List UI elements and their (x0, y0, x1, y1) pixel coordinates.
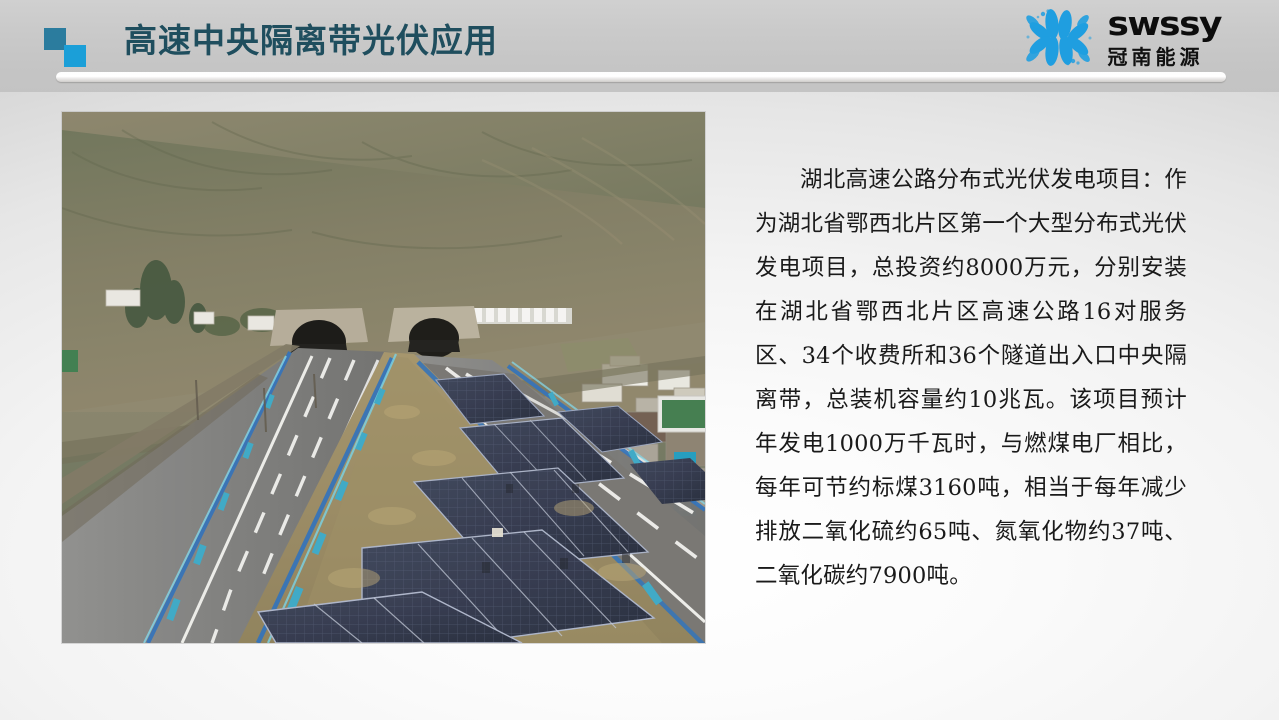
header-divider-bar (56, 72, 1226, 82)
presentation-slide: 高速中央隔离带光伏应用 (0, 0, 1279, 720)
logo-wordmark: swssy (1107, 8, 1221, 41)
page-title: 高速中央隔离带光伏应用 (124, 19, 498, 63)
highway-solar-photo (62, 112, 705, 643)
logo-text-block: swssy 冠南能源 (1107, 7, 1221, 68)
header-decoration-square-upper (44, 28, 66, 50)
company-logo: swssy 冠南能源 (1021, 4, 1221, 70)
logo-subtitle: 冠南能源 (1107, 48, 1221, 68)
swssy-petal-logo-icon (1021, 6, 1095, 68)
header-decoration-square-lower (64, 45, 86, 67)
slide-header: 高速中央隔离带光伏应用 (0, 0, 1279, 92)
description-paragraph: 湖北高速公路分布式光伏发电项目：作为湖北省鄂西北片区第一个大型分布式光伏发电项目… (755, 158, 1187, 598)
description-text-block: 湖北高速公路分布式光伏发电项目：作为湖北省鄂西北片区第一个大型分布式光伏发电项目… (755, 158, 1187, 598)
